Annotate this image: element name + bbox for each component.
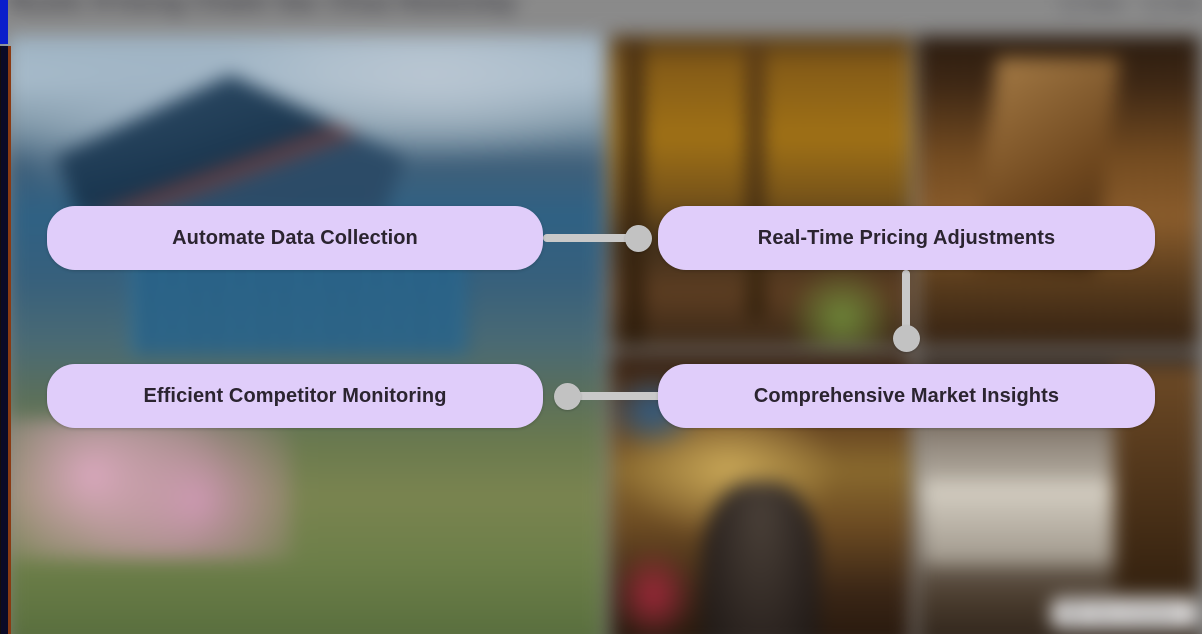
connector-line-bottom-horizontal	[567, 392, 662, 400]
connector-dot-top-horizontal	[625, 225, 652, 252]
node-efficient-competitor-monitoring[interactable]: Efficient Competitor Monitoring	[47, 364, 543, 428]
connector-dot-bottom-horizontal	[554, 383, 581, 410]
benefits-node-diagram: Automate Data Collection Real-Time Prici…	[0, 0, 1202, 634]
node-automate-data-collection[interactable]: Automate Data Collection	[47, 206, 543, 270]
node-label: Real-Time Pricing Adjustments	[758, 227, 1055, 250]
node-comprehensive-market-insights[interactable]: Comprehensive Market Insights	[658, 364, 1155, 428]
node-label: Efficient Competitor Monitoring	[143, 385, 446, 408]
connector-dot-right-vertical	[893, 325, 920, 352]
node-real-time-pricing[interactable]: Real-Time Pricing Adjustments	[658, 206, 1155, 270]
node-label: Comprehensive Market Insights	[754, 385, 1059, 408]
node-label: Automate Data Collection	[172, 227, 418, 250]
